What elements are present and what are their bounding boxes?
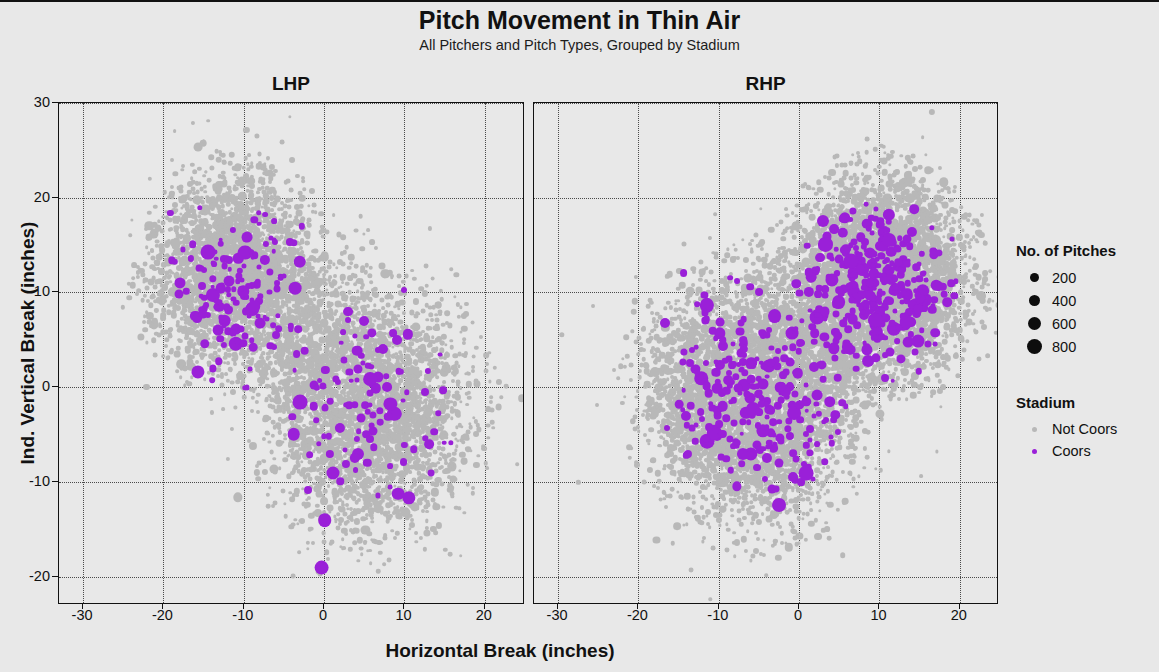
- data-point-not-coors: [162, 284, 167, 289]
- data-point-coors: [427, 470, 434, 477]
- legend-size-item[interactable]: 600: [1016, 312, 1159, 335]
- data-point-not-coors: [759, 296, 763, 300]
- data-point-not-coors: [973, 257, 977, 261]
- data-point-not-coors: [753, 334, 758, 339]
- data-point-not-coors: [878, 468, 882, 472]
- data-point-not-coors: [418, 338, 422, 342]
- data-point-not-coors: [669, 352, 674, 357]
- data-point-not-coors: [696, 476, 701, 481]
- data-point-not-coors: [226, 457, 230, 461]
- data-point-not-coors: [272, 372, 277, 377]
- legend-size-item[interactable]: 400: [1016, 289, 1159, 312]
- data-point-not-coors: [147, 177, 151, 181]
- data-point-not-coors: [317, 469, 321, 473]
- data-point-not-coors: [747, 484, 751, 488]
- data-point-not-coors: [664, 307, 667, 310]
- legend-stadium-item-coors[interactable]: Coors: [1016, 440, 1159, 462]
- data-point-not-coors: [339, 285, 342, 288]
- data-point-not-coors: [412, 483, 416, 487]
- data-point-not-coors: [864, 369, 868, 373]
- data-point-not-coors: [816, 426, 821, 431]
- data-point-not-coors: [434, 313, 438, 317]
- data-point-not-coors: [148, 303, 153, 308]
- data-point-coors: [664, 425, 670, 431]
- data-point-not-coors: [849, 442, 854, 447]
- legend-stadium-label: Coors: [1052, 443, 1091, 459]
- data-point-coors: [804, 268, 813, 277]
- data-point-coors: [289, 282, 302, 295]
- data-point-not-coors: [835, 460, 840, 465]
- data-point-not-coors: [198, 214, 202, 218]
- data-point-not-coors: [698, 457, 702, 461]
- data-point-not-coors: [808, 521, 814, 527]
- data-point-not-coors: [980, 319, 985, 324]
- x-tick-mark: [323, 604, 324, 609]
- data-point-not-coors: [449, 463, 454, 468]
- data-point-not-coors: [146, 320, 151, 325]
- data-point-not-coors: [485, 466, 489, 470]
- data-point-not-coors: [444, 415, 449, 420]
- data-point-not-coors: [432, 340, 436, 344]
- data-point-not-coors: [753, 371, 757, 375]
- data-point-not-coors: [177, 301, 181, 305]
- data-point-not-coors: [681, 472, 687, 478]
- data-point-coors: [272, 249, 277, 254]
- data-point-not-coors: [373, 292, 379, 298]
- data-point-not-coors: [966, 303, 971, 308]
- data-point-not-coors: [145, 245, 149, 249]
- data-point-not-coors: [500, 396, 503, 399]
- x-tick-mark: [243, 604, 244, 609]
- legend-stadium-item-not-coors[interactable]: Not Coors: [1016, 418, 1159, 440]
- data-point-not-coors: [766, 463, 770, 467]
- data-point-not-coors: [154, 234, 158, 238]
- data-point-not-coors: [221, 407, 225, 411]
- data-point-not-coors: [311, 441, 316, 446]
- data-point-coors: [198, 266, 204, 272]
- data-point-not-coors: [175, 231, 179, 235]
- data-point-not-coors: [946, 314, 950, 318]
- page-subtitle: All Pitchers and Pitch Types, Grouped by…: [0, 37, 1159, 53]
- data-point-not-coors: [674, 412, 679, 417]
- gridline-vertical: [960, 103, 961, 603]
- data-point-not-coors: [140, 298, 145, 303]
- data-point-not-coors: [332, 213, 336, 217]
- data-point-not-coors: [863, 466, 866, 469]
- data-point-not-coors: [284, 408, 288, 412]
- data-point-not-coors: [750, 554, 755, 559]
- data-point-not-coors: [300, 204, 304, 208]
- data-point-not-coors: [213, 214, 220, 221]
- data-point-coors: [702, 308, 707, 313]
- data-point-not-coors: [317, 346, 322, 351]
- data-point-not-coors: [681, 241, 686, 246]
- data-point-not-coors: [722, 475, 727, 480]
- data-point-not-coors: [748, 490, 752, 494]
- data-point-not-coors: [761, 513, 765, 517]
- data-point-not-coors: [708, 236, 712, 240]
- data-point-not-coors: [323, 421, 327, 425]
- data-point-not-coors: [636, 425, 640, 429]
- data-point-not-coors: [328, 382, 333, 387]
- data-point-not-coors: [490, 420, 495, 425]
- data-point-not-coors: [874, 467, 877, 470]
- data-point-not-coors: [285, 300, 289, 304]
- data-point-coors: [294, 325, 302, 333]
- data-point-not-coors: [737, 508, 742, 513]
- data-point-not-coors: [399, 432, 403, 436]
- data-point-not-coors: [931, 240, 936, 245]
- data-point-coors: [911, 335, 924, 348]
- data-point-not-coors: [306, 547, 309, 550]
- data-point-not-coors: [411, 396, 416, 401]
- data-point-not-coors: [724, 311, 729, 316]
- data-point-not-coors: [302, 376, 306, 380]
- data-point-not-coors: [321, 531, 326, 536]
- data-point-not-coors: [746, 309, 753, 316]
- data-point-not-coors: [484, 368, 489, 373]
- data-point-not-coors: [905, 193, 915, 203]
- data-point-not-coors: [715, 312, 719, 316]
- data-point-not-coors: [407, 459, 412, 464]
- data-point-coors: [804, 243, 811, 250]
- data-point-coors: [703, 360, 709, 366]
- scatter-panel-lhp: [58, 102, 524, 604]
- data-point-not-coors: [781, 232, 785, 236]
- data-point-not-coors: [773, 277, 778, 282]
- data-point-coors: [400, 458, 408, 466]
- data-point-not-coors: [404, 274, 409, 279]
- data-point-not-coors: [194, 143, 203, 152]
- data-point-not-coors: [170, 158, 174, 162]
- data-point-coors: [274, 280, 280, 286]
- data-point-not-coors: [778, 220, 783, 225]
- data-point-not-coors: [888, 163, 891, 166]
- data-point-coors: [734, 279, 740, 285]
- data-point-not-coors: [855, 491, 859, 495]
- data-point-not-coors: [253, 240, 257, 244]
- data-point-not-coors: [383, 332, 387, 336]
- data-point-not-coors: [755, 537, 759, 541]
- data-point-coors: [882, 353, 888, 359]
- data-point-not-coors: [641, 357, 646, 362]
- data-point-not-coors: [211, 372, 215, 376]
- data-point-not-coors: [264, 399, 268, 403]
- data-point-not-coors: [982, 278, 986, 282]
- data-point-not-coors: [215, 188, 222, 195]
- data-point-not-coors: [900, 154, 903, 157]
- data-point-not-coors: [822, 432, 827, 437]
- data-point-coors: [766, 408, 771, 413]
- data-point-not-coors: [290, 384, 295, 389]
- data-point-not-coors: [199, 352, 205, 358]
- data-point-not-coors: [335, 329, 339, 333]
- data-point-not-coors: [176, 265, 182, 271]
- data-point-not-coors: [307, 275, 314, 282]
- data-point-not-coors: [254, 469, 260, 475]
- data-point-not-coors: [716, 305, 720, 309]
- data-point-not-coors: [428, 452, 432, 456]
- data-point-not-coors: [658, 497, 663, 502]
- data-point-not-coors: [657, 479, 662, 484]
- data-point-not-coors: [389, 319, 394, 324]
- data-point-not-coors: [693, 338, 698, 343]
- data-point-not-coors: [961, 279, 967, 285]
- legend-size-item[interactable]: 800: [1016, 335, 1159, 358]
- data-point-coors: [201, 244, 216, 259]
- data-point-not-coors: [457, 364, 460, 367]
- data-point-not-coors: [414, 377, 418, 381]
- data-point-not-coors: [698, 259, 703, 264]
- data-point-coors: [815, 266, 821, 272]
- data-point-coors: [424, 439, 434, 449]
- data-point-not-coors: [239, 213, 243, 217]
- data-point-not-coors: [185, 346, 190, 351]
- data-point-not-coors: [628, 455, 632, 459]
- data-point-not-coors: [621, 357, 624, 360]
- data-point-not-coors: [973, 330, 978, 335]
- data-point-not-coors: [633, 340, 638, 345]
- gridline-horizontal: [534, 103, 997, 104]
- data-point-not-coors: [670, 347, 675, 352]
- data-point-not-coors: [849, 459, 855, 465]
- data-point-not-coors: [300, 460, 303, 463]
- data-point-not-coors: [681, 308, 687, 314]
- data-point-not-coors: [271, 433, 275, 437]
- data-point-not-coors: [688, 477, 692, 481]
- data-point-not-coors: [679, 480, 682, 483]
- data-point-not-coors: [379, 262, 386, 269]
- data-point-not-coors: [818, 471, 822, 475]
- data-point-not-coors: [357, 559, 360, 562]
- data-point-not-coors: [229, 380, 234, 385]
- data-point-not-coors: [341, 235, 347, 241]
- data-point-not-coors: [410, 325, 414, 329]
- data-point-not-coors: [412, 386, 416, 390]
- data-point-not-coors: [719, 505, 726, 512]
- data-point-not-coors: [307, 496, 311, 500]
- data-point-not-coors: [676, 299, 680, 303]
- data-point-not-coors: [802, 387, 806, 391]
- data-point-not-coors: [648, 332, 651, 335]
- data-point-not-coors: [958, 312, 962, 316]
- data-point-not-coors: [712, 309, 716, 313]
- data-point-not-coors: [121, 305, 125, 309]
- data-point-not-coors: [273, 457, 276, 460]
- data-point-coors: [189, 241, 197, 249]
- data-point-not-coors: [444, 310, 450, 316]
- data-point-not-coors: [395, 531, 399, 535]
- data-point-not-coors: [323, 282, 327, 286]
- data-point-not-coors: [804, 538, 808, 542]
- data-point-not-coors: [929, 362, 933, 366]
- data-point-not-coors: [767, 272, 771, 276]
- data-point-coors: [849, 271, 856, 278]
- data-point-not-coors: [288, 214, 292, 218]
- legend-size-item[interactable]: 200: [1016, 266, 1159, 289]
- data-point-coors: [699, 416, 705, 422]
- data-point-coors: [829, 224, 839, 234]
- data-point-not-coors: [964, 262, 967, 265]
- data-point-coors: [199, 294, 204, 299]
- legend-size-title: No. of Pitches: [1016, 242, 1159, 259]
- data-point-coors: [870, 301, 876, 307]
- data-point-coors: [882, 233, 896, 247]
- data-point-not-coors: [324, 347, 329, 352]
- data-point-not-coors: [273, 501, 278, 506]
- data-point-not-coors: [381, 438, 386, 443]
- data-point-not-coors: [935, 373, 939, 377]
- data-point-coors: [703, 315, 710, 322]
- data-point-not-coors: [713, 279, 716, 282]
- data-point-not-coors: [732, 243, 735, 246]
- data-point-not-coors: [361, 305, 365, 309]
- data-point-not-coors: [322, 540, 327, 545]
- data-point-not-coors: [366, 304, 370, 308]
- x-tick-mark: [637, 604, 638, 609]
- data-point-not-coors: [474, 379, 479, 384]
- data-point-not-coors: [291, 232, 295, 236]
- data-point-coors: [262, 212, 268, 218]
- data-point-not-coors: [369, 239, 375, 245]
- data-point-not-coors: [256, 410, 260, 414]
- data-point-not-coors: [130, 219, 133, 222]
- data-point-not-coors: [395, 301, 402, 308]
- data-point-coors: [924, 278, 929, 283]
- data-point-coors: [844, 325, 852, 333]
- data-point-coors: [728, 275, 734, 281]
- data-point-not-coors: [488, 351, 491, 354]
- data-point-not-coors: [917, 384, 923, 390]
- data-point-not-coors: [694, 481, 698, 485]
- data-point-not-coors: [800, 262, 805, 267]
- data-point-coors: [249, 343, 258, 352]
- data-point-not-coors: [744, 549, 748, 553]
- data-point-not-coors: [759, 207, 762, 210]
- data-point-not-coors: [977, 357, 982, 362]
- data-point-coors: [352, 345, 363, 356]
- data-point-coors: [755, 408, 763, 416]
- data-point-not-coors: [827, 449, 830, 452]
- data-point-not-coors: [819, 488, 822, 491]
- data-point-not-coors: [707, 472, 712, 477]
- data-point-coors: [343, 307, 353, 317]
- data-point-not-coors: [834, 214, 838, 218]
- x-tick-mark: [878, 604, 879, 609]
- data-point-not-coors: [421, 309, 426, 314]
- data-point-not-coors: [689, 289, 693, 293]
- data-point-not-coors: [236, 176, 240, 180]
- data-point-not-coors: [419, 445, 424, 450]
- data-point-not-coors: [323, 489, 327, 493]
- data-point-not-coors: [670, 487, 675, 492]
- data-point-not-coors: [882, 171, 887, 176]
- data-point-not-coors: [424, 529, 431, 536]
- data-point-not-coors: [477, 454, 480, 457]
- data-point-not-coors: [363, 540, 367, 544]
- data-point-coors: [368, 422, 375, 429]
- data-point-not-coors: [153, 285, 158, 290]
- x-tick-label: -20: [617, 607, 657, 623]
- data-point-not-coors: [831, 195, 835, 199]
- data-point-not-coors: [784, 274, 790, 280]
- data-point-coors: [709, 327, 718, 336]
- data-point-coors: [306, 451, 314, 459]
- data-point-not-coors: [262, 437, 266, 441]
- x-tick-mark: [162, 604, 163, 609]
- data-point-not-coors: [266, 228, 270, 232]
- data-point-not-coors: [827, 176, 832, 181]
- data-point-not-coors: [358, 214, 363, 219]
- data-point-not-coors: [230, 207, 234, 211]
- data-point-coors: [316, 441, 322, 447]
- data-point-not-coors: [367, 348, 372, 353]
- data-point-not-coors: [414, 332, 418, 336]
- data-point-not-coors: [234, 406, 237, 409]
- data-point-not-coors: [843, 200, 847, 204]
- data-point-coors: [820, 376, 827, 383]
- legend-stadium-label: Not Coors: [1052, 421, 1117, 437]
- x-tick-label: 20: [464, 607, 504, 623]
- data-point-not-coors: [782, 413, 786, 417]
- data-point-not-coors: [662, 437, 666, 441]
- data-point-not-coors: [191, 180, 196, 185]
- data-point-not-coors: [952, 298, 956, 302]
- data-point-not-coors: [203, 234, 207, 238]
- data-point-not-coors: [832, 155, 837, 160]
- data-point-not-coors: [459, 306, 462, 309]
- data-point-not-coors: [801, 349, 806, 354]
- data-point-not-coors: [423, 376, 428, 381]
- data-point-not-coors: [639, 342, 643, 346]
- data-point-not-coors: [129, 282, 136, 289]
- data-point-not-coors: [956, 234, 962, 240]
- data-point-not-coors: [796, 309, 800, 313]
- data-point-not-coors: [437, 309, 442, 314]
- data-point-not-coors: [354, 264, 359, 269]
- data-point-not-coors: [160, 312, 166, 318]
- data-point-not-coors: [704, 267, 708, 271]
- data-point-not-coors: [311, 541, 315, 545]
- data-point-coors: [933, 342, 938, 347]
- data-point-coors: [255, 318, 266, 329]
- data-point-not-coors: [423, 547, 427, 551]
- data-point-not-coors: [654, 323, 659, 328]
- data-point-not-coors: [132, 276, 136, 280]
- data-point-not-coors: [360, 286, 364, 290]
- data-point-not-coors: [348, 472, 352, 476]
- data-point-not-coors: [859, 419, 864, 424]
- data-point-not-coors: [268, 283, 272, 287]
- data-point-coors: [795, 348, 802, 355]
- data-point-not-coors: [474, 346, 478, 350]
- data-point-not-coors: [233, 362, 237, 366]
- data-point-not-coors: [459, 401, 462, 404]
- data-point-coors: [753, 464, 761, 472]
- data-point-coors: [313, 417, 319, 423]
- data-point-not-coors: [825, 424, 829, 428]
- data-point-not-coors: [351, 488, 356, 493]
- data-point-not-coors: [653, 377, 658, 382]
- data-point-not-coors: [983, 240, 987, 244]
- data-point-coors: [863, 202, 868, 207]
- data-point-not-coors: [245, 201, 249, 205]
- data-point-not-coors: [829, 263, 833, 267]
- data-point-not-coors: [200, 260, 204, 264]
- data-point-not-coors: [647, 467, 653, 473]
- data-point-not-coors: [924, 359, 928, 363]
- data-point-coors: [869, 231, 874, 236]
